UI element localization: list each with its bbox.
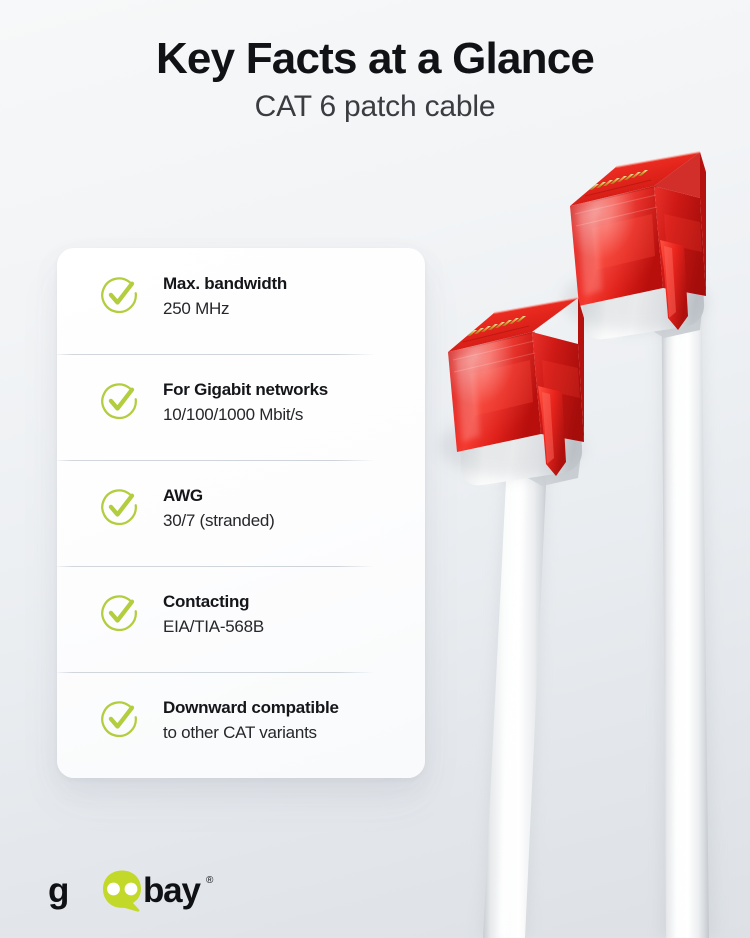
fact-title: AWG — [163, 486, 203, 505]
rj45-plug-right — [563, 152, 707, 332]
logo-text-g: g — [48, 871, 68, 910]
contact-pins-right — [585, 170, 657, 202]
check-circle-icon — [99, 380, 140, 421]
logo-trademark: ® — [206, 875, 214, 886]
page-title: Key Facts at a Glance — [0, 34, 750, 83]
fact-value: 10/100/1000 Mbit/s — [163, 403, 328, 426]
fact-title: For Gigabit networks — [163, 380, 328, 399]
check-circle-icon — [99, 592, 140, 633]
fact-value: 30/7 (stranded) — [163, 509, 275, 532]
fact-value: to other CAT variants — [163, 721, 339, 744]
contact-pins-left — [463, 316, 535, 348]
key-facts-card: Max. bandwidth 250 MHz For Gigabit netwo… — [57, 248, 425, 778]
fact-item: Downward compatible to other CAT variant… — [57, 672, 425, 778]
check-circle-icon — [99, 486, 140, 527]
fact-item: For Gigabit networks 10/100/1000 Mbit/s — [57, 354, 425, 460]
check-circle-icon — [99, 698, 140, 739]
infographic-page: Key Facts at a Glance CAT 6 patch cable … — [0, 0, 750, 938]
header: Key Facts at a Glance CAT 6 patch cable — [0, 34, 750, 125]
fact-value: 250 MHz — [163, 297, 287, 320]
fact-title: Max. bandwidth — [163, 274, 287, 293]
fact-title: Downward compatible — [163, 698, 339, 717]
rj45-plug-left — [440, 298, 584, 478]
check-circle-icon — [99, 274, 140, 315]
strain-relief-boot-right — [583, 246, 704, 340]
fact-title: Contacting — [163, 592, 249, 611]
fact-value: EIA/TIA-568B — [163, 615, 264, 638]
logo-text-bay: bay — [143, 871, 201, 910]
page-subtitle: CAT 6 patch cable — [0, 89, 750, 125]
fact-item: Max. bandwidth 250 MHz — [57, 248, 425, 354]
fact-item: AWG 30/7 (stranded) — [57, 460, 425, 566]
goobay-logo: g bay ® — [47, 868, 247, 912]
cable-right — [659, 292, 716, 938]
cable-left — [480, 442, 549, 938]
strain-relief-boot-left — [460, 392, 582, 486]
fact-item: Contacting EIA/TIA-568B — [57, 566, 425, 672]
